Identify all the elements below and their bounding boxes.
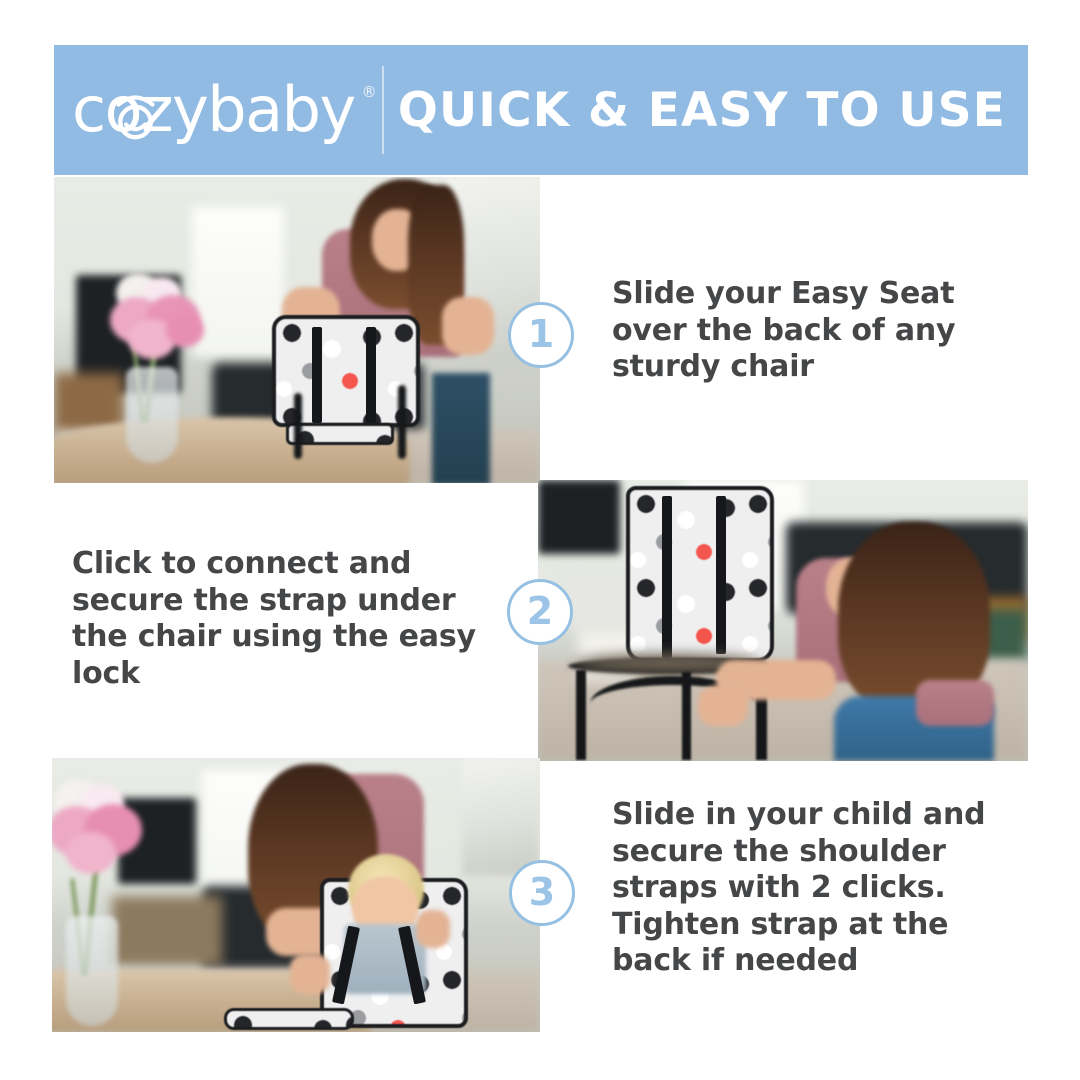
step-3-number-badge: 3 bbox=[509, 860, 575, 926]
step-3-number: 3 bbox=[529, 873, 555, 911]
page-title: QUICK & EASY TO USE bbox=[398, 83, 1006, 138]
infographic-page: cozybaby ® QUICK & EASY TO USE bbox=[0, 0, 1080, 1080]
step-2-number: 2 bbox=[527, 592, 553, 630]
step-1-photo bbox=[54, 177, 540, 483]
step-2-text: Click to connect and secure the strap un… bbox=[72, 546, 484, 692]
step-2-photo bbox=[538, 480, 1028, 761]
header-banner: cozybaby ® QUICK & EASY TO USE bbox=[54, 45, 1028, 175]
brand-logo: cozybaby ® bbox=[54, 45, 382, 175]
step-2-number-badge: 2 bbox=[507, 579, 573, 645]
step-3-text: Slide in your child and secure the shoul… bbox=[612, 797, 1022, 980]
step-1-text: Slide your Easy Seat over the back of an… bbox=[612, 276, 1012, 386]
step-3-photo bbox=[52, 758, 540, 1032]
header-title-zone: QUICK & EASY TO USE bbox=[384, 83, 1028, 138]
registered-trademark-icon: ® bbox=[362, 83, 377, 101]
smiley-face-o-icon bbox=[112, 93, 159, 140]
step-1-number: 1 bbox=[528, 315, 554, 353]
step-1-number-badge: 1 bbox=[508, 302, 574, 368]
